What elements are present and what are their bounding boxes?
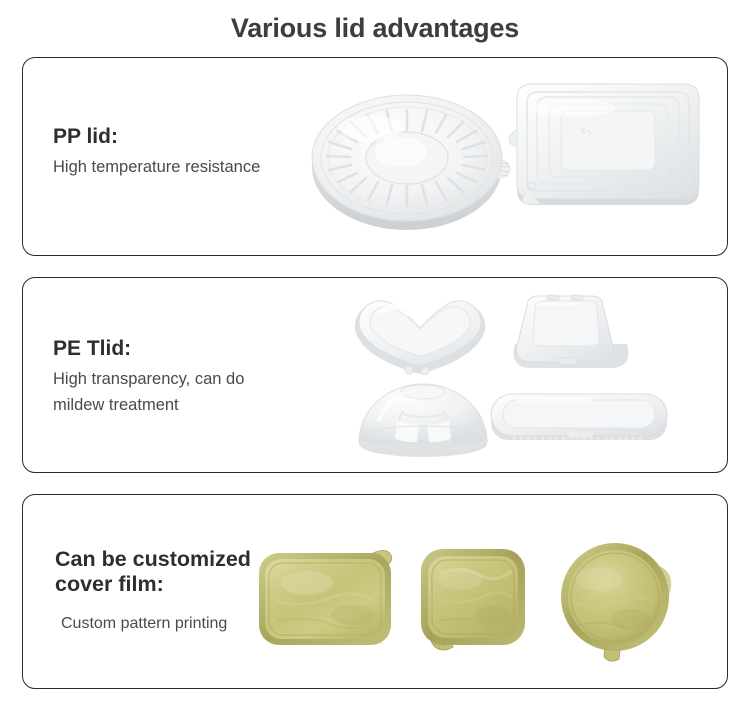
panel-pe-heading: PE Tlid: (53, 336, 244, 361)
oval-pe-lid-image (479, 380, 679, 460)
rectangular-gold-cover-film-image (253, 543, 403, 653)
round-pp-lid-image (309, 70, 509, 245)
panel-pe-text-block: PE Tlid: High transparency, can do milde… (53, 336, 244, 418)
panel-pp-subtitle: High temperature resistance (53, 154, 260, 180)
square-gold-cover-film-image (413, 543, 543, 658)
panel-cf-heading: Can be customized cover film: (55, 547, 251, 597)
panel-cf-subtitle: Custom pattern printing (55, 602, 251, 637)
page-title: Various lid advantages (0, 0, 750, 46)
heart-pe-lid-image (345, 282, 495, 387)
round-gold-cover-film-image (553, 539, 688, 664)
square-pe-lid-image (501, 284, 641, 384)
panel-cover-film: Can be customized cover film: Custom pat… (22, 494, 728, 689)
panel-cf-text-block: Can be customized cover film: Custom pat… (55, 547, 251, 637)
panel-pp-lid: PP lid: High temperature resistance (22, 57, 728, 256)
panel-pe-subtitle: High transparency, can do mildew treatme… (53, 366, 244, 418)
panel-pp-text-block: PP lid: High temperature resistance (53, 124, 260, 180)
panel-pp-heading: PP lid: (53, 124, 260, 149)
rectangular-pp-lid-image (499, 68, 709, 243)
dome-pe-lid-image (351, 376, 496, 461)
panel-pe-tlid: PE Tlid: High transparency, can do milde… (22, 277, 728, 473)
